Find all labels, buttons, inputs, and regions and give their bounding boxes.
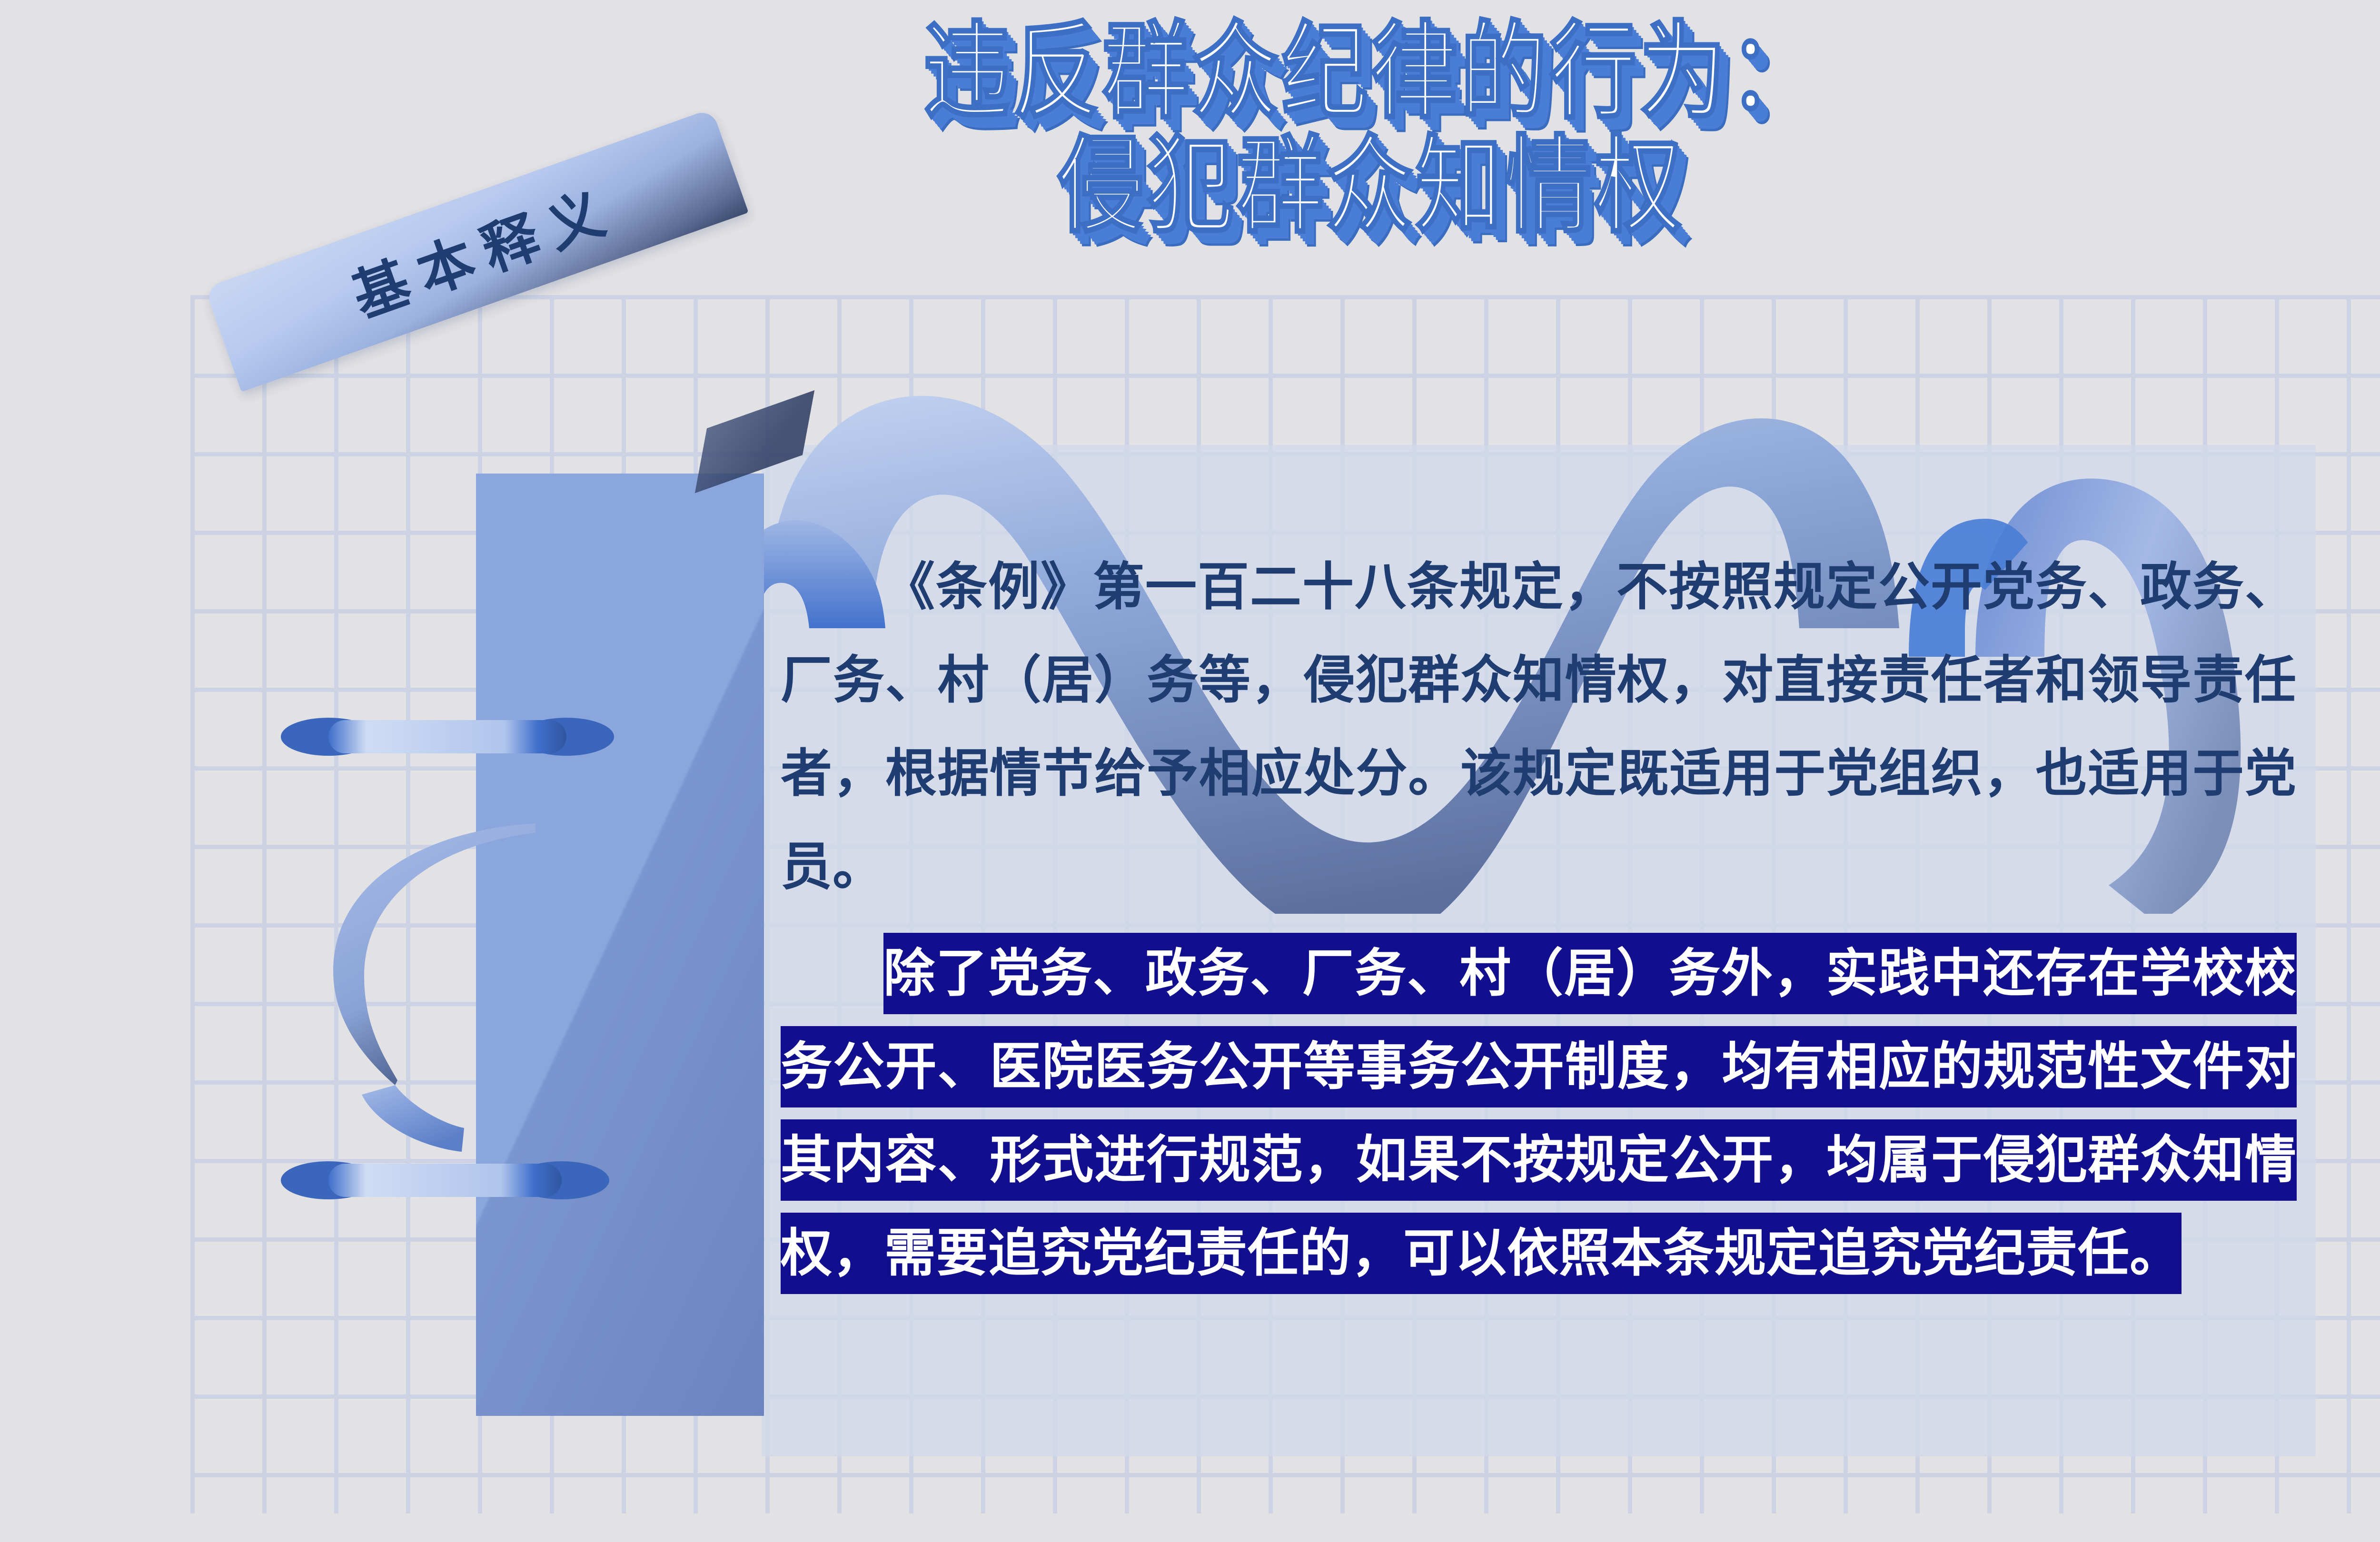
curl-ribbon-decoration (276, 704, 704, 1295)
ribbon-clasp-top (281, 718, 614, 756)
section-tag-label: 基本释义 (328, 164, 625, 336)
ribbon-curl-upper (333, 823, 535, 1085)
poster-canvas: 基本释义 违反群众纪律的行为： 侵犯群众知情权 《条例》第一百二十八条规定，不按… (0, 0, 2380, 1542)
page-title: 违反群众纪律的行为： 侵犯群众知情权 (0, 10, 2380, 238)
ribbon-curl-lower (362, 1085, 464, 1152)
title-line-1: 违反群众纪律的行为： (0, 10, 2380, 149)
body-text-block: 《条例》第一百二十八条规定，不按照规定公开党务、政务、厂务、村（居）务等，侵犯群… (781, 540, 2297, 1300)
ribbon-clasp-bottom (281, 1161, 609, 1199)
paragraph-highlight-wrapper: 除了党务、政务、厂务、村（居）务外，实践中还存在学校校务公开、医院医务公开等事务… (781, 927, 2297, 1300)
paragraph-definition: 《条例》第一百二十八条规定，不按照规定公开党务、政务、厂务、村（居）务等，侵犯群… (781, 540, 2297, 913)
section-tag: 基本释义 (205, 109, 749, 392)
highlighted-paragraph: 除了党务、政务、厂务、村（居）务外，实践中还存在学校校务公开、医院医务公开等事务… (781, 933, 2297, 1294)
